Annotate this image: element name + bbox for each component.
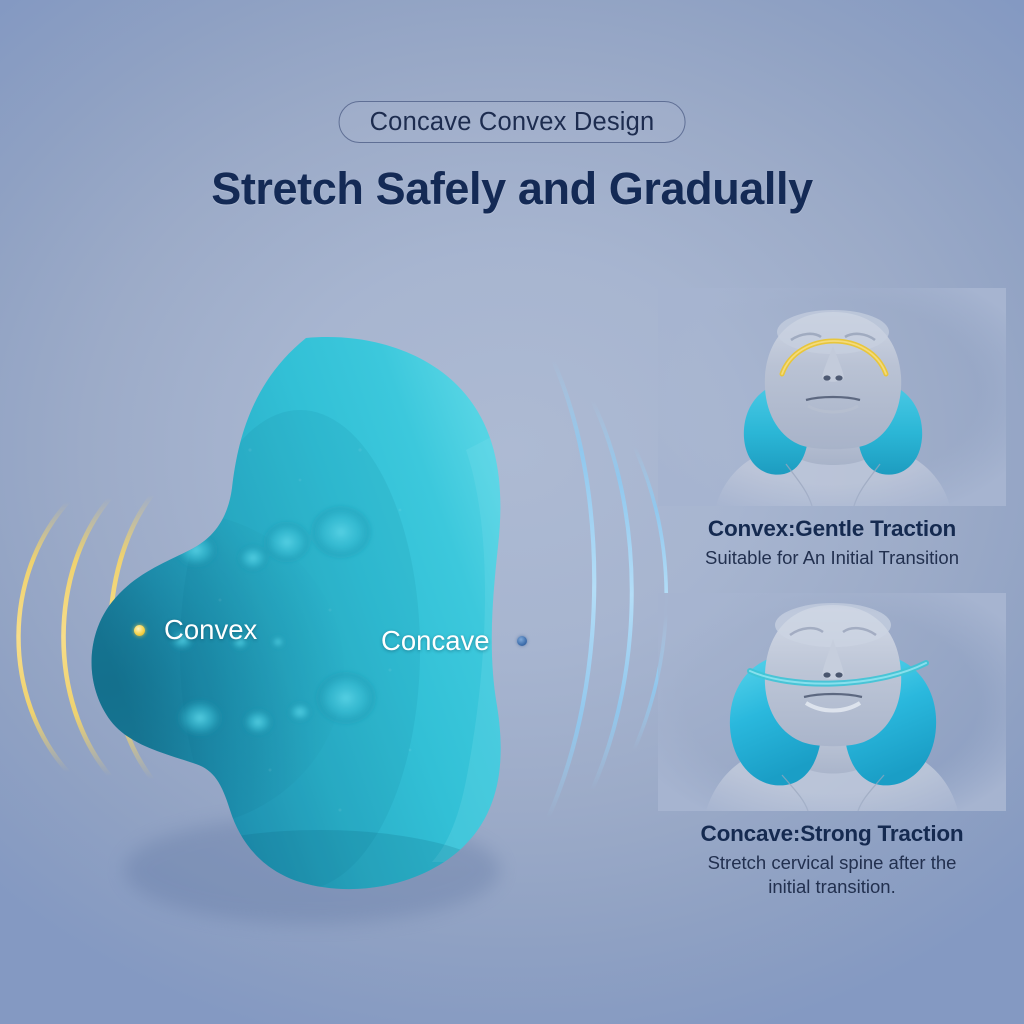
product-illustration: Convex Concave xyxy=(0,250,672,950)
face-reclined-strong-icon xyxy=(658,593,1006,811)
header: Concave Convex Design Stretch Safely and… xyxy=(0,0,1024,240)
design-badge-label: Concave Convex Design xyxy=(370,108,655,137)
caption-convex-title: Convex:Gentle Traction xyxy=(658,516,1006,542)
caption-concave: Concave:Strong Traction Stretch cervical… xyxy=(658,821,1006,900)
caption-concave-title: Concave:Strong Traction xyxy=(658,821,1006,847)
design-badge: Concave Convex Design xyxy=(339,101,686,143)
caption-convex-subtitle: Suitable for An Initial Transition xyxy=(658,546,1006,570)
card-convex-gentle-traction: Convex:Gentle Traction Suitable for An I… xyxy=(658,288,1006,570)
face-reclined-gentle-icon xyxy=(658,288,1006,506)
infographic-canvas: Concave Convex Design Stretch Safely and… xyxy=(0,0,1024,1024)
caption-concave-subtitle: Stretch cervical spine after the initial… xyxy=(694,851,970,900)
page-title: Stretch Safely and Gradually xyxy=(0,163,1024,215)
caption-convex: Convex:Gentle Traction Suitable for An I… xyxy=(658,516,1006,570)
card-concave-strong-traction: Concave:Strong Traction Stretch cervical… xyxy=(658,593,1006,900)
concave-wave-lines-icon xyxy=(0,250,672,950)
